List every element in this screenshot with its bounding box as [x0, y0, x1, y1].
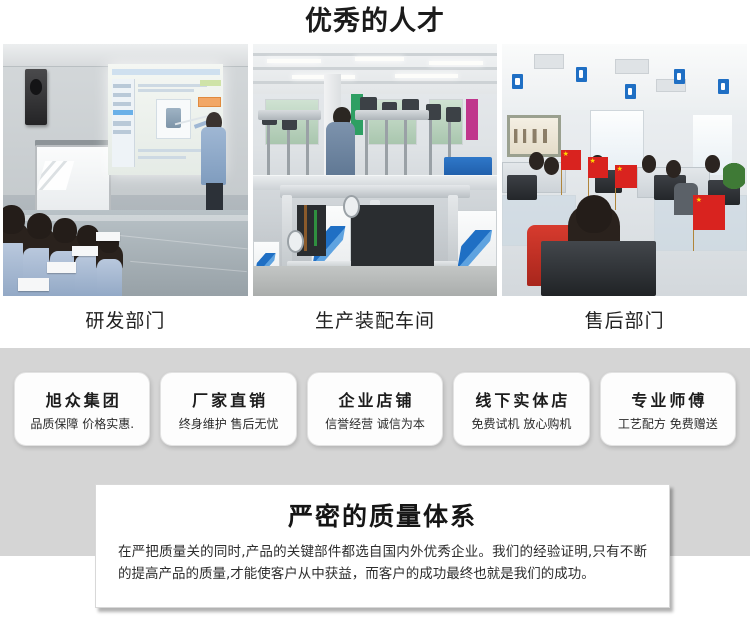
quality-system-body: 在严把质量关的同时,产品的关键部件都选自国内外优秀企业。我们的经验证明,只有不断… — [118, 541, 647, 585]
feature-card-professional-master[interactable]: 专业师傅 工艺配方 免费赠送 — [600, 372, 736, 446]
gallery-photo-production[interactable] — [253, 44, 498, 296]
caption-research: 研发部门 — [3, 296, 248, 346]
quality-system-panel: 严密的质量体系 在严把质量关的同时,产品的关键部件都选自国内外优秀企业。我们的经… — [95, 484, 670, 608]
photo-after-sales-office — [502, 44, 747, 296]
feature-card-subtitle: 品质保障 价格实惠. — [30, 415, 134, 432]
feature-card-factory-direct[interactable]: 厂家直销 终身维护 售后无忧 — [160, 372, 296, 446]
caption-aftersales: 售后部门 — [502, 296, 747, 346]
feature-card-enterprise-store[interactable]: 企业店铺 信誉经营 诚信为本 — [307, 372, 443, 446]
feature-card-subtitle: 工艺配方 免费赠送 — [618, 415, 718, 432]
feature-card-subtitle: 终身维护 售后无忧 — [179, 415, 279, 432]
feature-card-title: 旭众集团 — [43, 387, 122, 411]
photo-assembly-workshop — [253, 44, 498, 296]
feature-card-title: 企业店铺 — [336, 387, 415, 411]
photo-gallery — [0, 44, 750, 296]
feature-card-group[interactable]: 旭众集团 品质保障 价格实惠. — [14, 372, 150, 446]
feature-card-title: 线下实体店 — [472, 387, 570, 411]
caption-production: 生产装配车间 — [253, 296, 498, 346]
feature-card-subtitle: 免费试机 放心购机 — [472, 415, 572, 432]
gallery-photo-aftersales[interactable] — [502, 44, 747, 296]
photo-training-room — [3, 44, 248, 296]
photo-caption-row: 研发部门 生产装配车间 售后部门 — [0, 296, 750, 346]
feature-card-title: 厂家直销 — [189, 387, 268, 411]
quality-system-title: 严密的质量体系 — [118, 499, 647, 535]
feature-card-title: 专业师傅 — [628, 387, 707, 411]
feature-card-offline-store[interactable]: 线下实体店 免费试机 放心购机 — [453, 372, 589, 446]
feature-card-list: 旭众集团 品质保障 价格实惠. 厂家直销 终身维护 售后无忧 企业店铺 信誉经营… — [0, 348, 750, 446]
feature-card-subtitle: 信誉经营 诚信为本 — [325, 415, 425, 432]
page-title: 优秀的人才 — [0, 0, 750, 44]
gallery-photo-research[interactable] — [3, 44, 248, 296]
